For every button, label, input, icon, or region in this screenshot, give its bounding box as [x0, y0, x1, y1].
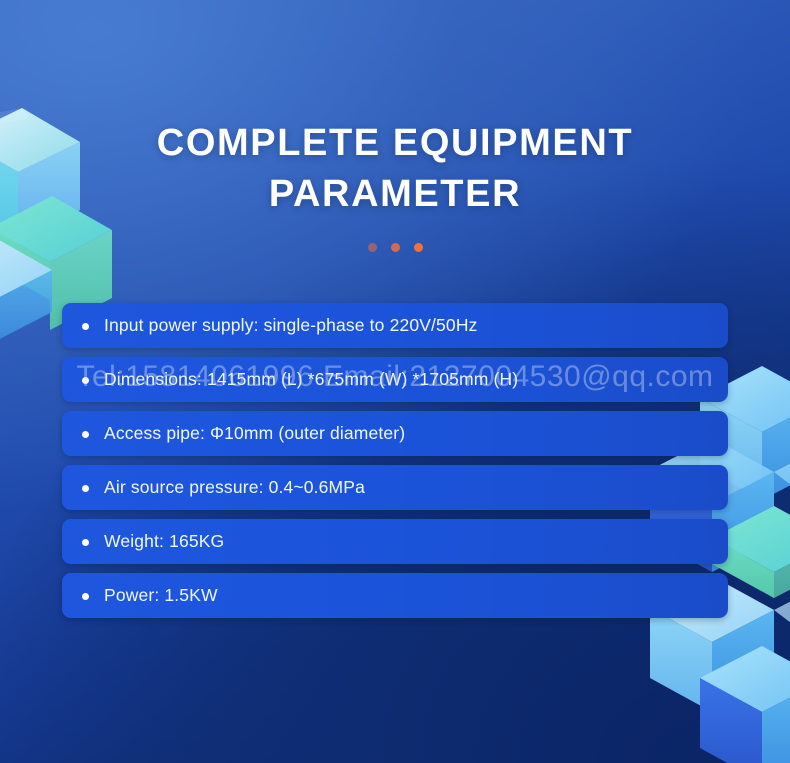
bullet-icon	[82, 593, 89, 600]
spec-row-air-pressure: Air source pressure: 0.4~0.6MPa	[62, 465, 728, 510]
spec-row-dimensions: Dimensions: 1415mm (L) *675mm (W) *1705m…	[62, 357, 728, 402]
spec-row-access-pipe: Access pipe: Φ10mm (outer diameter)	[62, 411, 728, 456]
page-title-line-1: COMPLETE EQUIPMENT	[157, 122, 633, 164]
divider-dot-1	[368, 243, 377, 252]
spec-label: Access pipe: Φ10mm (outer diameter)	[104, 423, 405, 444]
spec-row-input-power: Input power supply: single-phase to 220V…	[62, 303, 728, 348]
dots-divider	[0, 243, 790, 252]
page-title: COMPLETE EQUIPMENT PARAMETER	[0, 118, 790, 219]
spec-label: Input power supply: single-phase to 220V…	[104, 315, 478, 336]
bullet-icon	[82, 485, 89, 492]
bullet-icon	[82, 377, 89, 384]
bullet-icon	[82, 431, 89, 438]
poster-canvas: COMPLETE EQUIPMENT PARAMETER Input power…	[0, 0, 790, 763]
page-title-line-2: PARAMETER	[0, 169, 790, 220]
spec-row-weight: Weight: 165KG	[62, 519, 728, 564]
spec-label: Power: 1.5KW	[104, 585, 218, 606]
spec-label: Air source pressure: 0.4~0.6MPa	[104, 477, 365, 498]
spec-label: Weight: 165KG	[104, 531, 224, 552]
spec-row-power: Power: 1.5KW	[62, 573, 728, 618]
bullet-icon	[82, 539, 89, 546]
divider-dot-3	[414, 243, 423, 252]
divider-dot-2	[391, 243, 400, 252]
bullet-icon	[82, 323, 89, 330]
specification-list: Input power supply: single-phase to 220V…	[62, 303, 728, 618]
spec-label: Dimensions: 1415mm (L) *675mm (W) *1705m…	[104, 369, 518, 390]
